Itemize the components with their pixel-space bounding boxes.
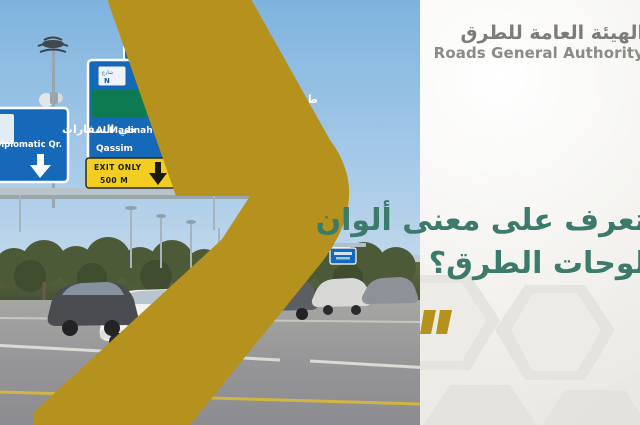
- svg-text:شارع: شارع: [102, 70, 113, 76]
- sign-exit-tab: EXIT: [124, 44, 182, 61]
- svg-text:EXIT: EXIT: [137, 50, 164, 60]
- svg-text:القصيم: القصيم: [232, 142, 270, 154]
- svg-text:٥٠٠ م: ٥٠٠ م: [232, 177, 255, 186]
- svg-text:500 M: 500 M: [100, 176, 128, 185]
- svg-text:Diplomatic Qr.: Diplomatic Qr.: [0, 140, 62, 150]
- svg-text:N: N: [104, 77, 110, 85]
- poster-canvas: EXIT شارع N طريق الملك فهد King Fahad Ro…: [0, 0, 640, 425]
- svg-text:المدينة المنورة: المدينة المنورة: [232, 124, 309, 136]
- svg-text:EXIT ONLY: EXIT ONLY: [94, 163, 142, 172]
- headline-line-1: تعرف على معنى ألوان: [316, 200, 640, 243]
- svg-text:King Fahad Road: King Fahad Road: [147, 107, 228, 117]
- quote-mark-icon: [420, 310, 456, 336]
- headline-line-2: لوحات الطرق؟: [316, 243, 640, 286]
- svg-text:طريق الملك فهد: طريق الملك فهد: [228, 93, 318, 106]
- svg-text:حي السفارات: حي السفارات: [62, 123, 137, 136]
- roads-general-authority-logo: الهيئة العامة للطرق Roads General Author…: [434, 24, 640, 62]
- svg-text:خروج فقط: خروج فقط: [236, 163, 291, 174]
- logo-arabic-name: الهيئة العامة للطرق: [434, 24, 640, 44]
- headline: تعرف على معنى ألوان لوحات الطرق؟: [316, 200, 640, 285]
- svg-text:Qassim: Qassim: [96, 144, 133, 154]
- logo-english-name: Roads General Authority: [434, 46, 640, 62]
